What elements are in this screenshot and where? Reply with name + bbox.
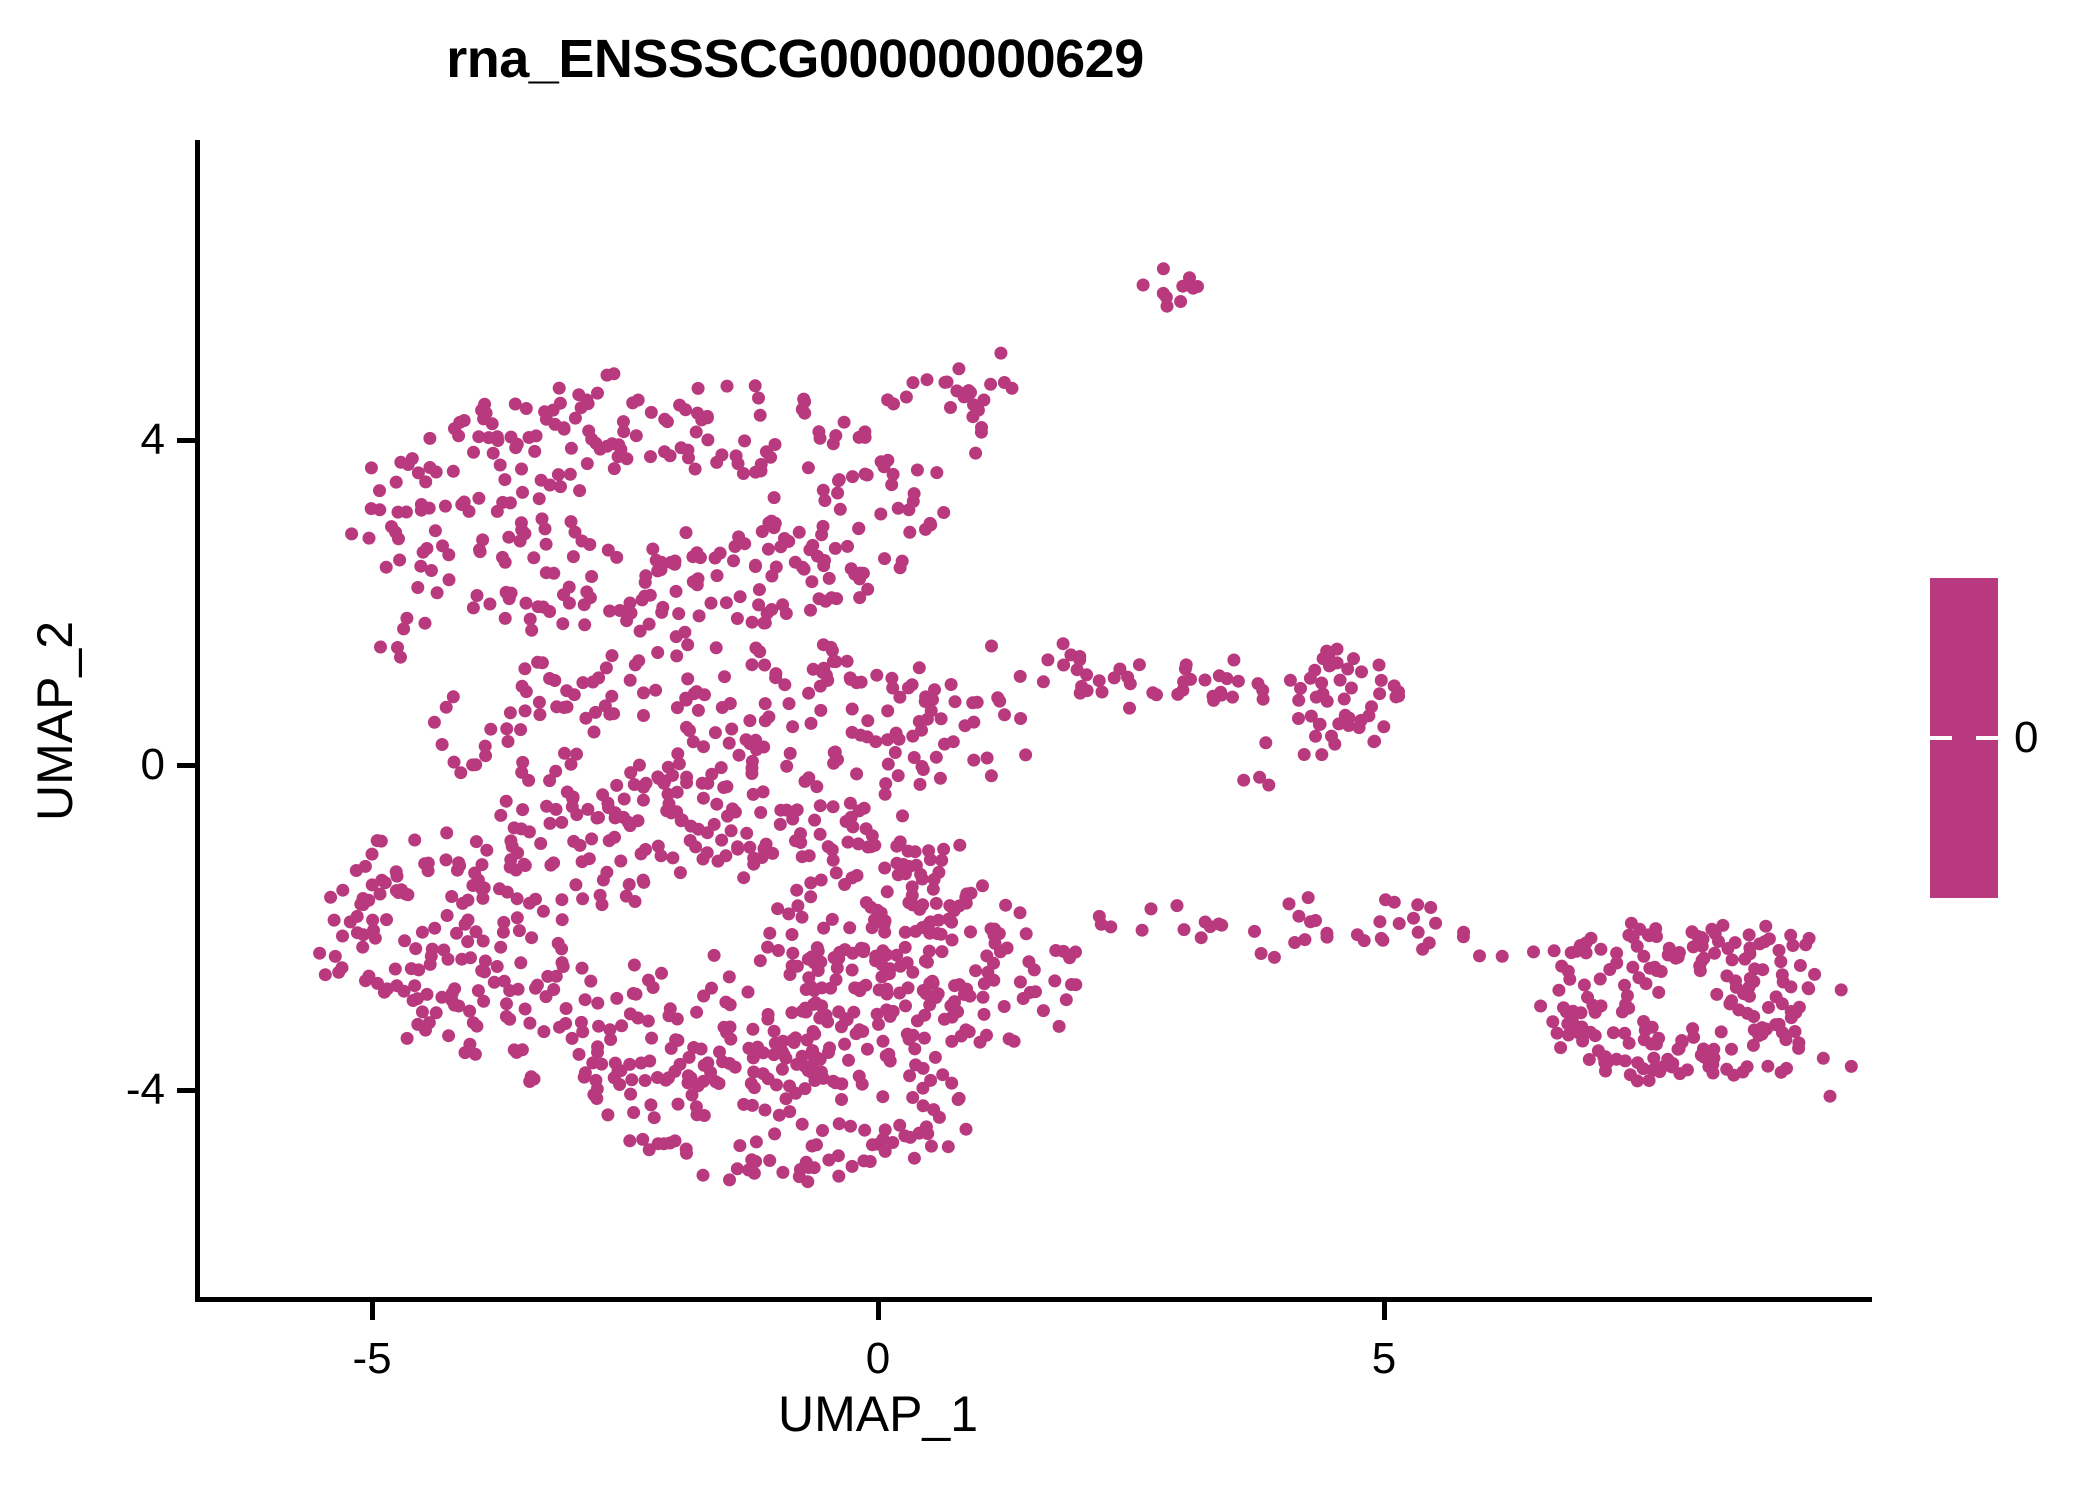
colorbar-gradient bbox=[1930, 578, 1998, 898]
x-tick-label: 0 bbox=[866, 1334, 890, 1384]
y-tick-mark bbox=[177, 1088, 195, 1093]
x-tick-label: -5 bbox=[352, 1334, 391, 1384]
scatter-points-layer bbox=[195, 140, 1872, 1302]
y-tick-mark bbox=[177, 438, 195, 443]
x-tick-mark bbox=[876, 1302, 881, 1320]
x-axis-title: UMAP_1 bbox=[778, 1385, 978, 1443]
page-title: rna_ENSSSCG00000000629 bbox=[0, 28, 1590, 90]
x-tick-label: 5 bbox=[1372, 1334, 1396, 1384]
legend-colorbar[interactable]: 0 bbox=[1930, 578, 2090, 908]
x-axis-line bbox=[195, 1297, 1872, 1302]
x-tick-mark bbox=[370, 1302, 375, 1320]
y-tick-label: -4 bbox=[126, 1065, 165, 1115]
y-axis-line bbox=[195, 140, 200, 1302]
y-axis-title: UMAP_2 bbox=[26, 621, 84, 821]
y-tick-label: 0 bbox=[141, 740, 165, 790]
plot-panel bbox=[195, 140, 1872, 1302]
y-tick-mark bbox=[177, 763, 195, 768]
colorbar-tick-mark bbox=[1930, 736, 1998, 740]
umap-feature-plot: rna_ENSSSCG00000000629 40-4 -505 UMAP_1 … bbox=[0, 0, 2100, 1500]
y-tick-label: 4 bbox=[141, 415, 165, 465]
x-tick-mark bbox=[1382, 1302, 1387, 1320]
colorbar-tick-label: 0 bbox=[2014, 713, 2038, 763]
